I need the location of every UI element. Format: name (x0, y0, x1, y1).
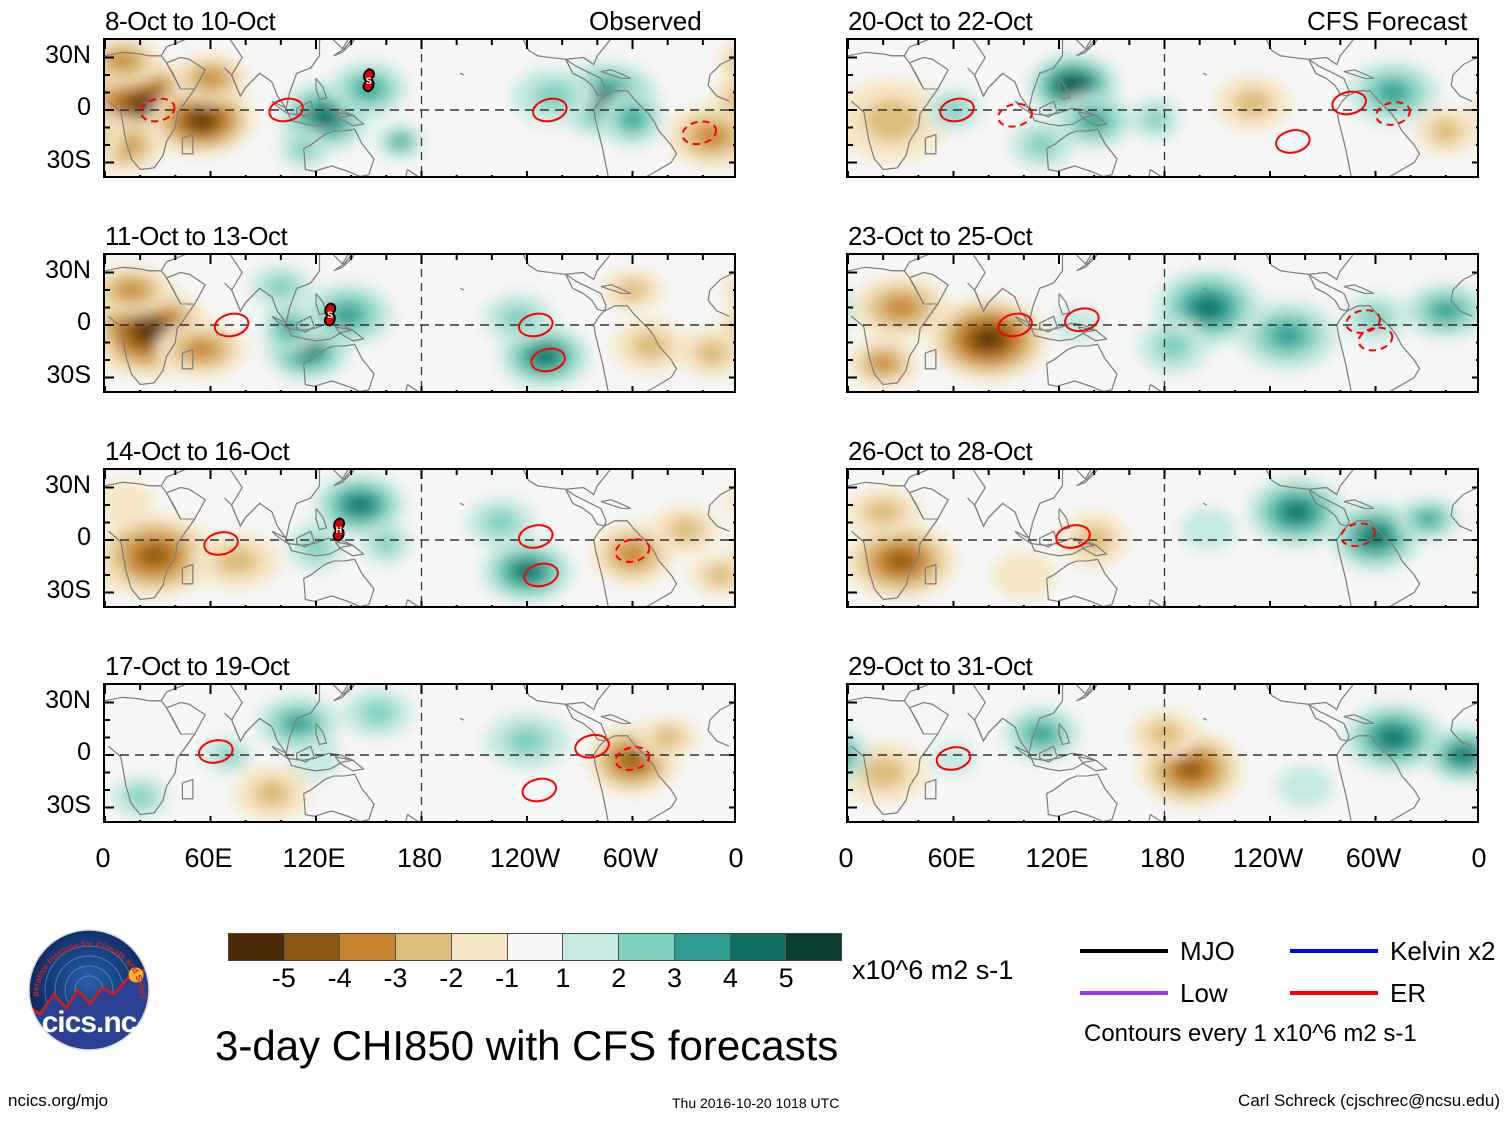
colorbar-tick-4: 4 (723, 965, 738, 992)
contour-interval-note: Contours every 1 x10^6 m2 s-1 (1084, 1022, 1417, 1046)
colorbar-tick-5: 5 (779, 965, 794, 992)
legend-label-mjo: MJO (1180, 938, 1235, 964)
colorbar-tick--1: -1 (495, 965, 519, 992)
wave-legend: MJO Kelvin x2 Low ER Contours every 1 x1… (1080, 938, 1510, 1048)
colorbar-bin-8 (674, 934, 730, 960)
colorbar-tick--5: -5 (272, 965, 296, 992)
panel-title-cfs-4: 29-Oct to 31-Oct (848, 653, 1032, 679)
footer-timestamp: Thu 2016-10-20 1018 UTC (672, 1095, 839, 1112)
logo-wordmark: cics.nc (42, 1006, 137, 1039)
er-line-swatch (1290, 991, 1378, 995)
x-tick-label-60E-right: 60E (927, 845, 975, 872)
legend-item-kelvin: Kelvin x2 (1290, 938, 1496, 964)
x-tick-label-180-right: 180 (1140, 845, 1185, 872)
colorbar-bin-3 (395, 934, 451, 960)
map-cfs-4[interactable] (846, 683, 1479, 823)
legend-label-er: ER (1390, 980, 1426, 1006)
colorbar-tick--4: -4 (328, 965, 352, 992)
colorbar-strip (228, 933, 842, 961)
x-tick-label-120E-right: 120E (1025, 845, 1088, 872)
colorbar-bin-6 (562, 934, 618, 960)
footer-author: Carl Schreck (cjschrec@ncsu.edu) (1238, 1092, 1500, 1109)
colorbar-bin-1 (284, 934, 340, 960)
colorbar-bin-2 (339, 934, 395, 960)
x-tick-label-0-right: 0 (1471, 845, 1486, 872)
colorbar-bin-4 (451, 934, 507, 960)
colorbar-bin-10 (785, 934, 841, 960)
colorbar-tick-1: 1 (555, 965, 570, 992)
colorbar-bin-9 (730, 934, 786, 960)
colorbar-units-label: x10^6 m2 s-1 (852, 957, 1013, 984)
colorbar-bin-5 (507, 934, 563, 960)
legend-label-low: Low (1180, 980, 1228, 1006)
colorbar-tick--3: -3 (383, 965, 407, 992)
colorbar-tick-3: 3 (667, 965, 682, 992)
x-tick-label-60W-right: 60W (1346, 845, 1402, 872)
footer-left-link[interactable]: ncics.org/mjo (8, 1092, 108, 1109)
x-tick-label-120W-right: 120W (1233, 845, 1304, 872)
colorbar-tick--2: -2 (439, 965, 463, 992)
mjo-line-swatch (1080, 949, 1168, 953)
legend-label-kelvin: Kelvin x2 (1390, 938, 1496, 964)
colorbar-tick-2: 2 (611, 965, 626, 992)
figure-root: 8-Oct to 10-OctObserved30N030SS11-Oct to… (0, 0, 1510, 1121)
low-line-swatch (1080, 991, 1168, 995)
legend-item-low: Low (1080, 980, 1228, 1006)
kelvin-line-swatch (1290, 949, 1378, 953)
x-tick-label-0-right: 0 (838, 845, 853, 872)
colorbar-bin-7 (618, 934, 674, 960)
logo-svg: Cooperative Institute for Climate and Sa… (14, 928, 164, 1054)
colorbar-bin-0 (229, 934, 284, 960)
cics-nc-logo: Cooperative Institute for Climate and Sa… (14, 928, 164, 1054)
main-title: 3-day CHI850 with CFS forecasts (215, 1025, 838, 1067)
legend-item-er: ER (1290, 980, 1426, 1006)
legend-item-mjo: MJO (1080, 938, 1235, 964)
